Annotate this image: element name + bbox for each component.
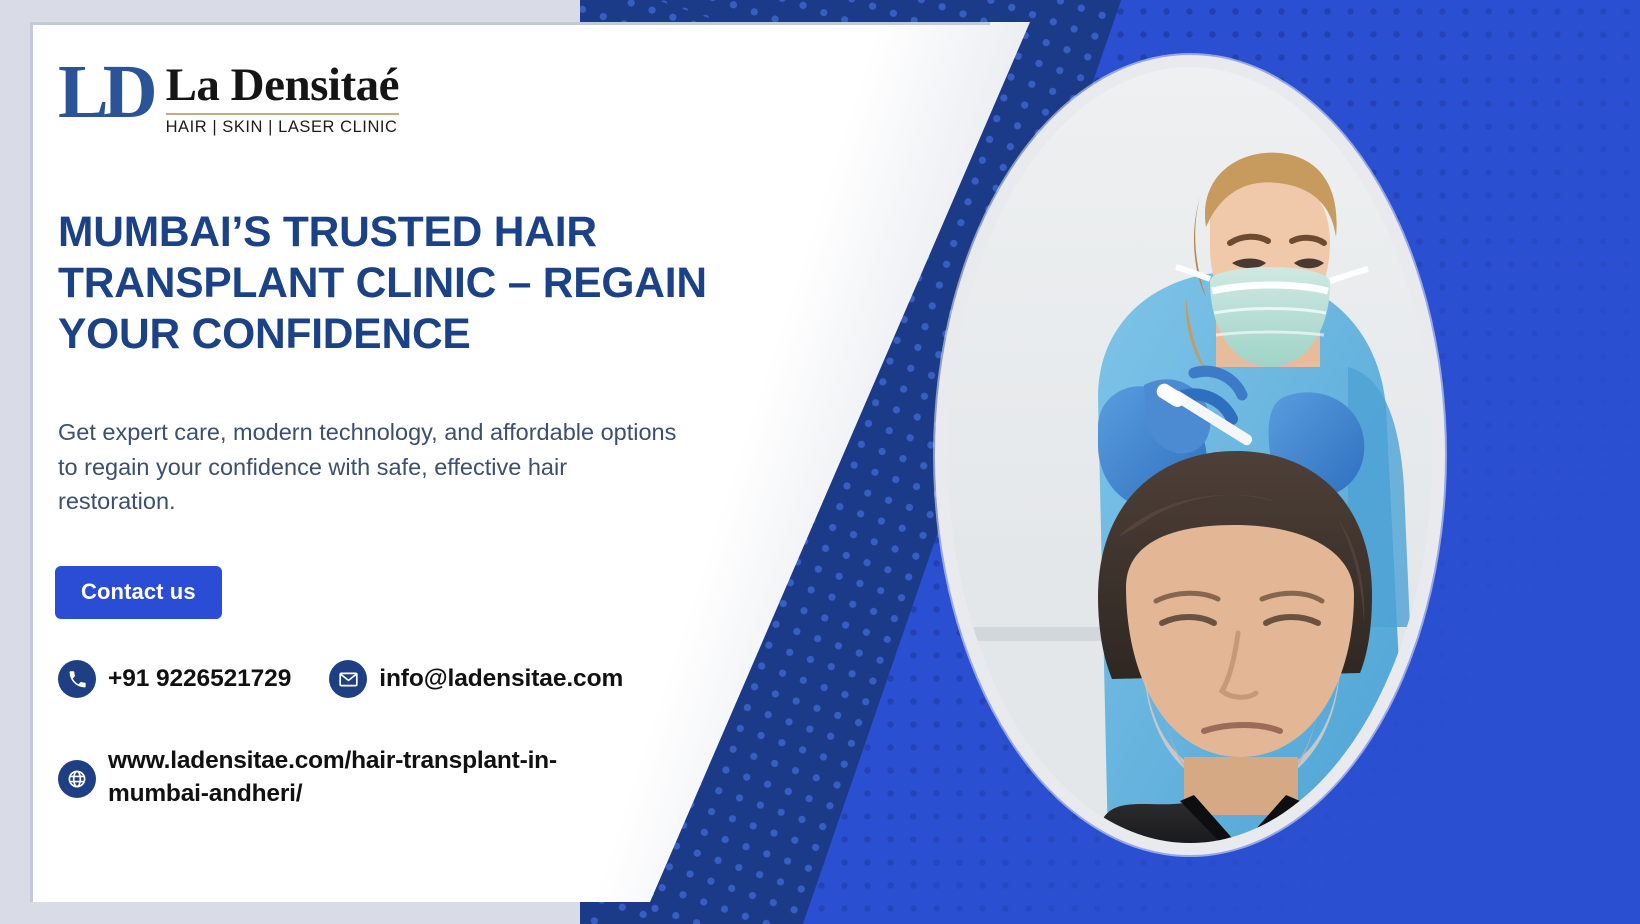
logo-divider-rule — [166, 113, 399, 115]
logo-wordmark-group: La Densitaé HAIR | SKIN | LASER CLINIC — [166, 58, 399, 137]
logo-tagline: HAIR | SKIN | LASER CLINIC — [166, 118, 399, 137]
website-url: www.ladensitae.com/hair-transplant-in-mu… — [108, 745, 638, 810]
clinic-portrait-photo — [948, 67, 1432, 843]
globe-icon — [58, 760, 96, 798]
brand-logo[interactable]: LD La Densitaé HAIR | SKIN | LASER CLINI… — [58, 58, 399, 137]
email-address: info@ladensitae.com — [379, 665, 623, 693]
hero-content: LD La Densitaé HAIR | SKIN | LASER CLINI… — [0, 0, 820, 924]
envelope-icon — [329, 660, 367, 698]
hero-headline: MUMBAI’S TRUSTED HAIR TRANSPLANT CLINIC … — [58, 207, 788, 360]
hero-subtitle: Get expert care, modern technology, and … — [58, 415, 678, 519]
contact-website[interactable]: www.ladensitae.com/hair-transplant-in-mu… — [58, 745, 638, 810]
portrait-illustration — [948, 67, 1432, 843]
phone-number: +91 9226521729 — [108, 665, 291, 693]
promo-banner: LD La Densitaé HAIR | SKIN | LASER CLINI… — [0, 0, 1640, 924]
contact-phone[interactable]: +91 9226521729 — [58, 660, 291, 698]
contact-row-primary: +91 9226521729 info@ladensitae.com — [58, 660, 623, 698]
logo-brand-name: La Densitaé — [166, 62, 399, 109]
logo-monogram: LD — [58, 58, 152, 128]
phone-icon — [58, 660, 96, 698]
contact-row-website: www.ladensitae.com/hair-transplant-in-mu… — [58, 745, 638, 810]
contact-us-button[interactable]: Contact us — [55, 566, 222, 619]
contact-email[interactable]: info@ladensitae.com — [329, 660, 623, 698]
